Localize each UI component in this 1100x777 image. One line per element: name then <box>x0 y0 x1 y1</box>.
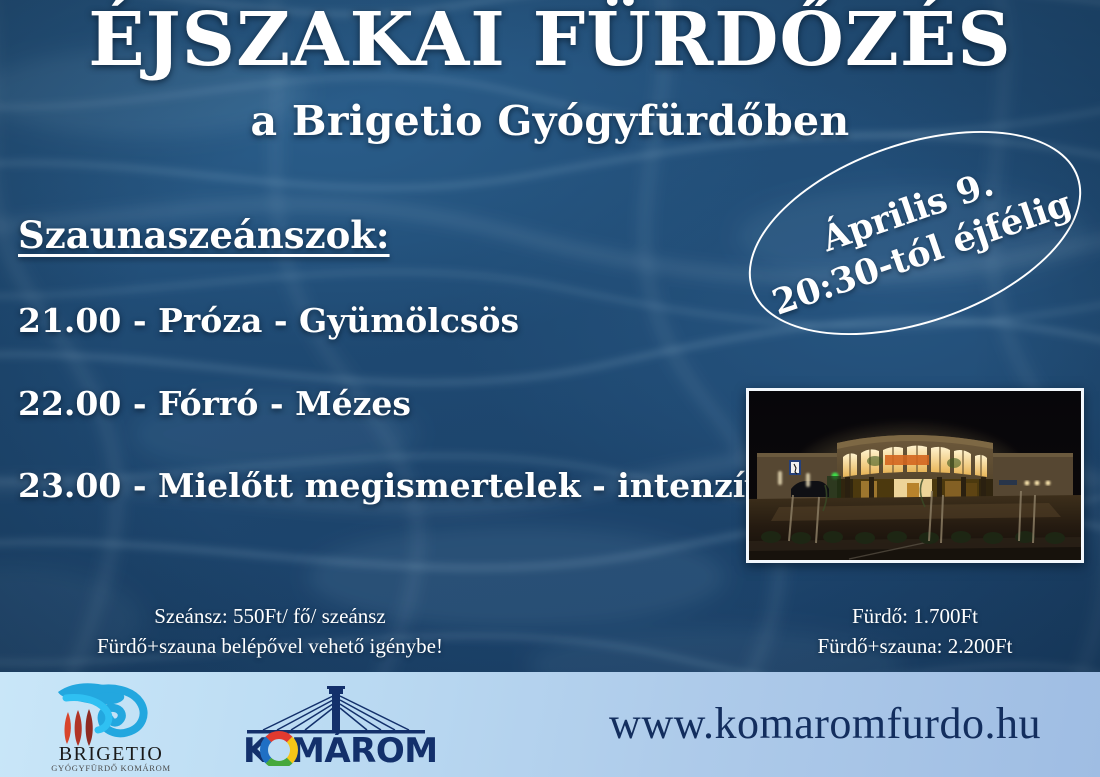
poster-root: ÉJSZAKAI FÜRDŐZÉS a Brigetio Gyógyfürdőb… <box>0 0 1100 777</box>
sauna-session-item: 23.00 - Mielőtt megismertelek - intenzív <box>18 466 765 505</box>
price-line: Fürdő: 1.700Ft <box>735 601 1095 631</box>
price-line: Szeánsz: 550Ft/ fő/ szeánsz <box>40 601 500 631</box>
spa-building-photo-illustration <box>749 391 1081 560</box>
brigetio-logo[interactable]: BRIGETIO GYÓGYFÜRDŐ KOMÁROM <box>36 676 186 774</box>
brigetio-logo-mark: BRIGETIO GYÓGYFÜRDŐ KOMÁROM <box>36 676 186 774</box>
page-title: ÉJSZAKAI FÜRDŐZÉS <box>0 2 1100 80</box>
website-url[interactable]: www.komaromfurdo.hu <box>560 698 1090 749</box>
price-line: Fürdő+szauna: 2.200Ft <box>735 631 1095 661</box>
price-info-right: Fürdő: 1.700Ft Fürdő+szauna: 2.200Ft <box>735 601 1095 662</box>
spa-building-photo <box>746 388 1084 563</box>
sauna-session-item: 22.00 - Fórró - Mézes <box>18 384 411 423</box>
sauna-sessions-heading: Szaunaszeánszok: <box>18 213 390 257</box>
komarom-logo-mark: K MÁROM <box>233 682 438 766</box>
komarom-logo[interactable]: K MÁROM <box>233 682 438 766</box>
price-info-left: Szeánsz: 550Ft/ fő/ szeánsz Fürdő+szauna… <box>40 601 500 662</box>
sauna-session-item: 21.00 - Próza - Gyümölcsös <box>18 301 519 340</box>
price-line: Fürdő+szauna belépővel vehető igénybe! <box>40 631 500 661</box>
brigetio-logo-name: BRIGETIO <box>59 743 164 765</box>
brigetio-logo-tagline: GYÓGYFÜRDŐ KOMÁROM <box>51 763 171 773</box>
komarom-logo-name-rest: MÁROM <box>291 730 438 766</box>
